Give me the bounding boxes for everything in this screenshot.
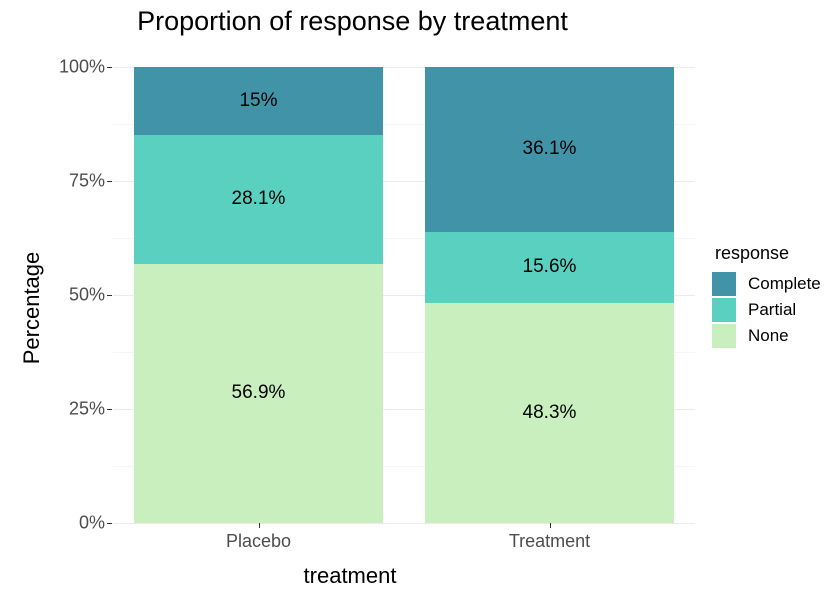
y-axis-tick-mark xyxy=(107,409,112,410)
legend-item-label: Partial xyxy=(748,300,796,320)
bar-segment-label: 48.3% xyxy=(523,402,577,424)
bar-segment[interactable]: 48.3% xyxy=(425,303,674,523)
legend-entries: CompletePartialNone xyxy=(712,271,840,349)
y-axis-tick-mark xyxy=(107,67,112,68)
x-axis-tick-label: Treatment xyxy=(450,531,650,552)
legend-color-swatch xyxy=(712,298,736,322)
bar-segment[interactable]: 28.1% xyxy=(134,135,383,263)
chart-container: Proportion of response by treatment Perc… xyxy=(0,0,840,600)
legend-item[interactable]: Partial xyxy=(712,297,840,323)
x-axis-tick-label: Placebo xyxy=(159,531,359,552)
x-axis-title: treatment xyxy=(0,563,700,589)
stacked-bar[interactable]: 48.3%15.6%36.1% xyxy=(425,67,674,523)
y-axis-tick-mark xyxy=(107,181,112,182)
x-axis-tick-mark xyxy=(259,523,260,528)
legend: response CompletePartialNone xyxy=(712,243,840,349)
bar-segment[interactable]: 15% xyxy=(134,67,383,135)
legend-color-swatch xyxy=(712,324,736,348)
plot-panel: 56.9%28.1%15%48.3%15.6%36.1% xyxy=(113,67,695,523)
bar-segment-label: 15% xyxy=(239,90,277,112)
bar-segment[interactable]: 56.9% xyxy=(134,264,383,523)
bar-segment[interactable]: 15.6% xyxy=(425,232,674,303)
x-axis-tick-mark xyxy=(550,523,551,528)
chart-title: Proportion of response by treatment xyxy=(0,6,705,37)
x-axis-tick-labels: PlaceboTreatment xyxy=(113,523,695,563)
bar-segment-label: 28.1% xyxy=(232,188,286,210)
bar-segment[interactable]: 36.1% xyxy=(425,67,674,232)
legend-item[interactable]: None xyxy=(712,323,840,349)
legend-item[interactable]: Complete xyxy=(712,271,840,297)
legend-title: response xyxy=(715,243,840,264)
bar-segment-label: 56.9% xyxy=(232,382,286,404)
y-axis-tick-mark xyxy=(107,523,112,524)
bar-segment-label: 15.6% xyxy=(523,256,577,278)
legend-color-swatch xyxy=(712,272,736,296)
stacked-bar[interactable]: 56.9%28.1%15% xyxy=(134,67,383,523)
legend-item-label: Complete xyxy=(748,274,821,294)
bar-segment-label: 36.1% xyxy=(523,138,577,160)
y-axis-tick-mark xyxy=(107,295,112,296)
y-axis-tick-marks xyxy=(0,67,113,523)
legend-item-label: None xyxy=(748,326,789,346)
